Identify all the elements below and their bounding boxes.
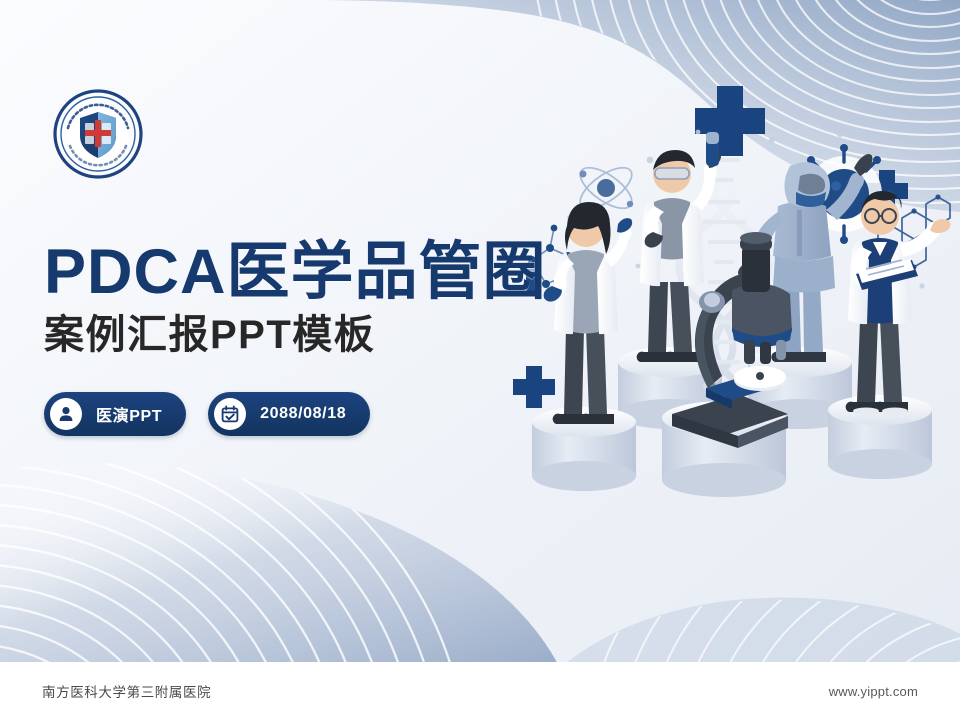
calendar-check-icon bbox=[214, 398, 246, 430]
website-url[interactable]: www.yippt.com bbox=[829, 684, 918, 699]
page-title: PDCA医学品管圈 bbox=[44, 240, 547, 306]
medical-research-team-illustration bbox=[510, 70, 960, 500]
medical-cross-left bbox=[513, 366, 555, 408]
author-label: 医演PPT bbox=[96, 402, 162, 426]
page-subtitle: 案例汇报PPT模板 bbox=[44, 312, 547, 358]
slide-footer: 南方医科大学第三附属医院 www.yippt.com bbox=[0, 662, 960, 720]
presentation-title-slide: PDCA医学品管圈 案例汇报PPT模板 医演PPT bbox=[0, 0, 960, 720]
title-block: PDCA医学品管圈 案例汇报PPT模板 bbox=[44, 240, 547, 358]
date-label: 2088/08/18 bbox=[260, 405, 346, 423]
person-icon bbox=[50, 398, 82, 430]
meta-pill-row: 医演PPT 2088/08/18 bbox=[44, 392, 370, 436]
author-pill[interactable]: 医演PPT bbox=[44, 392, 186, 436]
date-pill[interactable]: 2088/08/18 bbox=[208, 392, 370, 436]
organization-name: 南方医科大学第三附属医院 bbox=[42, 681, 211, 701]
university-hospital-logo bbox=[52, 88, 144, 180]
